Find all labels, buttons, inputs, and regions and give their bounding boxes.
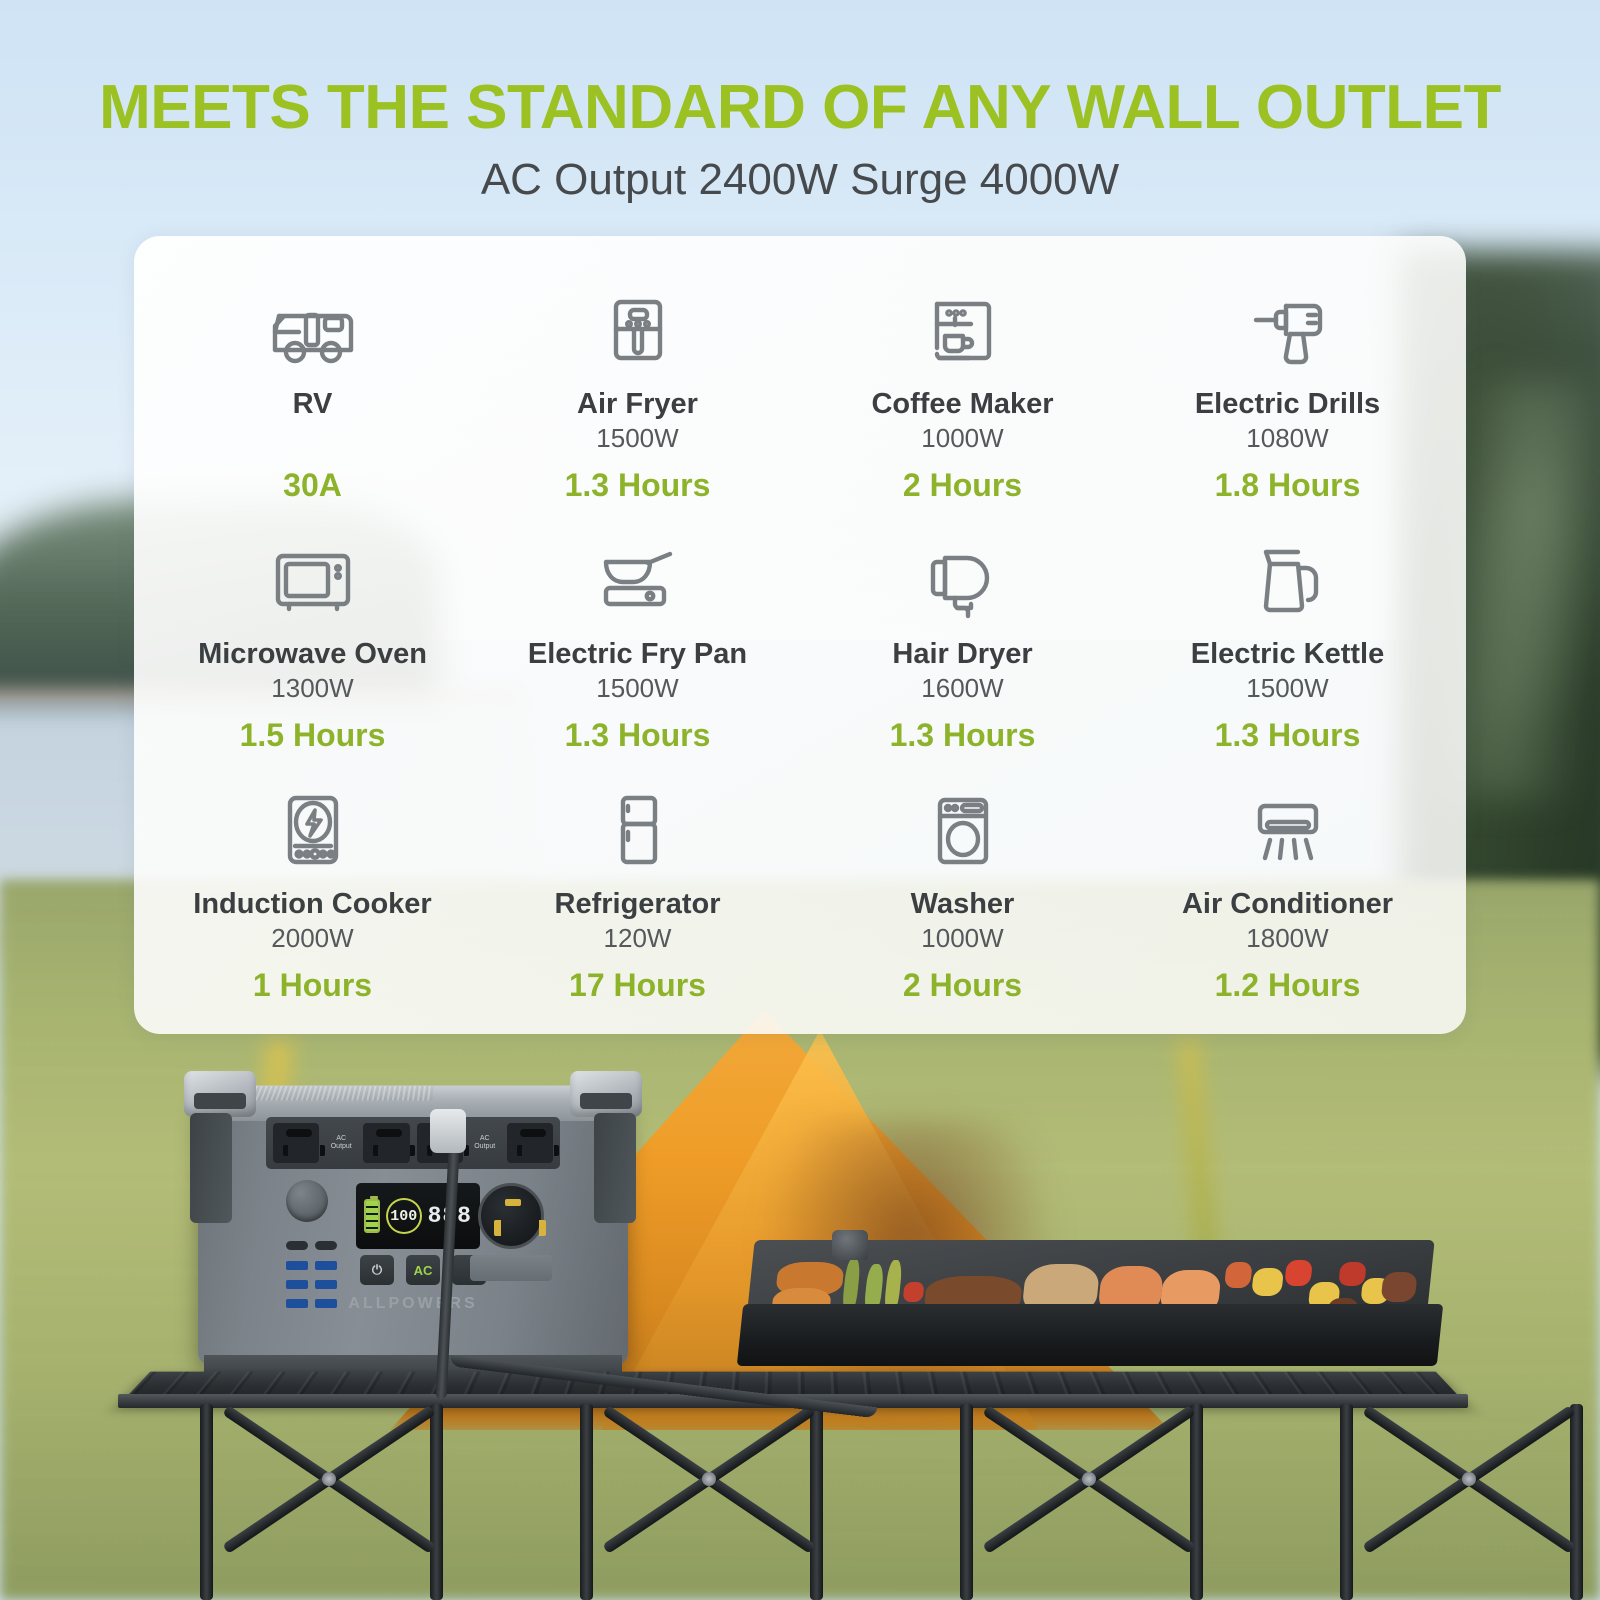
portable-power-station: ACOutput ACOutput 100 888 ⏻ AC ALLPOWERS: [178, 1055, 648, 1365]
table-leg: [580, 1404, 593, 1600]
battery-gauge-icon: [364, 1199, 380, 1233]
ac-socket-4: [507, 1123, 553, 1163]
brand-logo: ALLPOWERS: [178, 1295, 648, 1313]
brace-pivot: [1082, 1472, 1096, 1486]
table-leg: [200, 1404, 213, 1600]
usb-c-port-2: [315, 1241, 337, 1250]
table-leg: [430, 1404, 443, 1600]
food-item: [1251, 1268, 1284, 1296]
appliance-runtime: 2 Hours: [903, 968, 1022, 1003]
appliance-wattage: 1600W: [921, 674, 1003, 704]
appliance-cell-induction-cooker: Induction Cooker 2000W 1 Hours: [150, 764, 475, 1014]
station-corner-right: [594, 1113, 636, 1223]
griddle-temperature-knob: [832, 1230, 868, 1260]
appliance-runtime: 1.5 Hours: [240, 718, 386, 753]
ac-output-label-1: ACOutput: [326, 1135, 356, 1151]
appliance-name: Hair Dryer: [892, 638, 1032, 671]
brace-pivot: [702, 1472, 716, 1486]
appliance-wattage: 1000W: [921, 924, 1003, 954]
coffee-maker-icon: [915, 278, 1011, 382]
appliance-runtime: 1.3 Hours: [1215, 718, 1361, 753]
air-conditioner-icon: [1240, 778, 1336, 882]
rv-icon: [265, 278, 361, 382]
electric-kettle-icon: [1240, 528, 1336, 632]
output-panel-label: [470, 1255, 552, 1281]
refrigerator-icon: [590, 778, 686, 882]
appliance-name: Microwave Oven: [198, 638, 427, 671]
page-subheadline: AC Output 2400W Surge 4000W: [0, 155, 1600, 205]
brace-pivot: [322, 1472, 336, 1486]
appliance-wattage: 1800W: [1246, 924, 1328, 954]
ac-button: AC: [406, 1255, 440, 1285]
fry-pan-icon: [590, 528, 686, 632]
brace-pivot: [1462, 1472, 1476, 1486]
table-legs: [160, 1404, 1440, 1600]
appliance-cell-electric-fry-pan: Electric Fry Pan 1500W 1.3 Hours: [475, 514, 800, 764]
electric-griddle: [740, 1230, 1440, 1390]
appliance-wattage: 1300W: [271, 674, 353, 704]
appliance-cell-rv: RV 30A: [150, 264, 475, 514]
washer-icon: [915, 778, 1011, 882]
appliance-name: Washer: [911, 888, 1015, 921]
appliance-runtime: 1.8 Hours: [1215, 468, 1361, 503]
station-lcd-display: 100 888: [356, 1183, 480, 1249]
appliance-name: RV: [293, 388, 333, 421]
battery-percent: 100: [386, 1198, 422, 1234]
usb-a-port-3: [286, 1280, 308, 1289]
food-item: [1284, 1260, 1313, 1286]
microwave-oven-icon: [265, 528, 361, 632]
appliance-runtime: 1.2 Hours: [1215, 968, 1361, 1003]
appliance-name: Electric Fry Pan: [528, 638, 747, 671]
appliance-name: Induction Cooker: [193, 888, 431, 921]
appliance-runtime: 1.3 Hours: [890, 718, 1036, 753]
ac-socket-2: [363, 1123, 409, 1163]
appliance-runtime: 2 Hours: [903, 468, 1022, 503]
hair-dryer-icon: [915, 528, 1011, 632]
ac-outlet-row: ACOutput ACOutput: [266, 1117, 560, 1169]
appliance-cell-electric-kettle: Electric Kettle 1500W 1.3 Hours: [1125, 514, 1450, 764]
appliance-name: Air Fryer: [577, 388, 698, 421]
table-leg: [1570, 1404, 1583, 1600]
appliance-name: Air Conditioner: [1182, 888, 1393, 921]
usb-a-port-4: [315, 1280, 337, 1289]
appliance-cell-electric-drills: Electric Drills 1080W 1.8 Hours: [1125, 264, 1450, 514]
appliance-panel: RV 30A Air Fryer 1500W 1.3 Hours Coffee …: [134, 236, 1466, 1034]
appliance-name: Electric Kettle: [1191, 638, 1384, 671]
appliance-runtime: 17 Hours: [569, 968, 706, 1003]
ac-output-30a-socket: [478, 1183, 544, 1249]
appliance-runtime: 1.3 Hours: [565, 468, 711, 503]
station-handle-right: [570, 1071, 642, 1117]
food-item: [1338, 1262, 1367, 1286]
appliance-grid: RV 30A Air Fryer 1500W 1.3 Hours Coffee …: [134, 236, 1466, 1034]
ac-output-label-2: ACOutput: [470, 1135, 500, 1151]
appliance-runtime: 1.3 Hours: [565, 718, 711, 753]
induction-cooker-icon: [265, 778, 361, 882]
food-item: [1224, 1262, 1253, 1288]
appliance-wattage: 2000W: [271, 924, 353, 954]
appliance-cell-washer: Washer 1000W 2 Hours: [800, 764, 1125, 1014]
appliance-wattage: 1500W: [596, 424, 678, 454]
appliance-runtime: 1 Hours: [253, 968, 372, 1003]
appliance-cell-microwave-oven: Microwave Oven 1300W 1.5 Hours: [150, 514, 475, 764]
appliance-wattage: 1500W: [596, 674, 678, 704]
power-button: ⏻: [360, 1255, 394, 1285]
appliance-cell-hair-dryer: Hair Dryer 1600W 1.3 Hours: [800, 514, 1125, 764]
page-headline: MEETS THE STANDARD OF ANY WALL OUTLET: [0, 72, 1600, 143]
table-leg: [1340, 1404, 1353, 1600]
electric-drill-icon: [1240, 278, 1336, 382]
appliance-name: Electric Drills: [1195, 388, 1380, 421]
appliance-runtime: 30A: [283, 468, 342, 503]
appliance-name: Refrigerator: [555, 888, 721, 921]
ac-socket-1: [273, 1123, 319, 1163]
usb-a-port-1: [286, 1261, 308, 1270]
appliance-wattage: 120W: [604, 924, 672, 954]
appliance-wattage: 1080W: [1246, 424, 1328, 454]
station-lid-grooves: [230, 1086, 434, 1100]
appliance-cell-refrigerator: Refrigerator 120W 17 Hours: [475, 764, 800, 1014]
appliance-cell-air-fryer: Air Fryer 1500W 1.3 Hours: [475, 264, 800, 514]
griddle-base: [737, 1304, 1444, 1366]
usb-port-block: [286, 1241, 342, 1303]
appliance-name: Coffee Maker: [871, 388, 1053, 421]
air-fryer-icon: [590, 278, 686, 382]
usb-a-port-2: [315, 1261, 337, 1270]
appliance-wattage: 1000W: [921, 424, 1003, 454]
table-leg: [810, 1404, 823, 1600]
power-plug: [430, 1109, 466, 1153]
table-leg: [960, 1404, 973, 1600]
appliance-wattage: 1500W: [1246, 674, 1328, 704]
usb-c-port-1: [286, 1241, 308, 1250]
station-dc-port-cover: [286, 1180, 328, 1222]
station-handle-left: [184, 1071, 256, 1117]
appliance-cell-air-conditioner: Air Conditioner 1800W 1.2 Hours: [1125, 764, 1450, 1014]
table-leg: [1190, 1404, 1203, 1600]
food-item: [903, 1282, 925, 1302]
appliance-cell-coffee-maker: Coffee Maker 1000W 2 Hours: [800, 264, 1125, 514]
station-corner-left: [190, 1113, 232, 1223]
